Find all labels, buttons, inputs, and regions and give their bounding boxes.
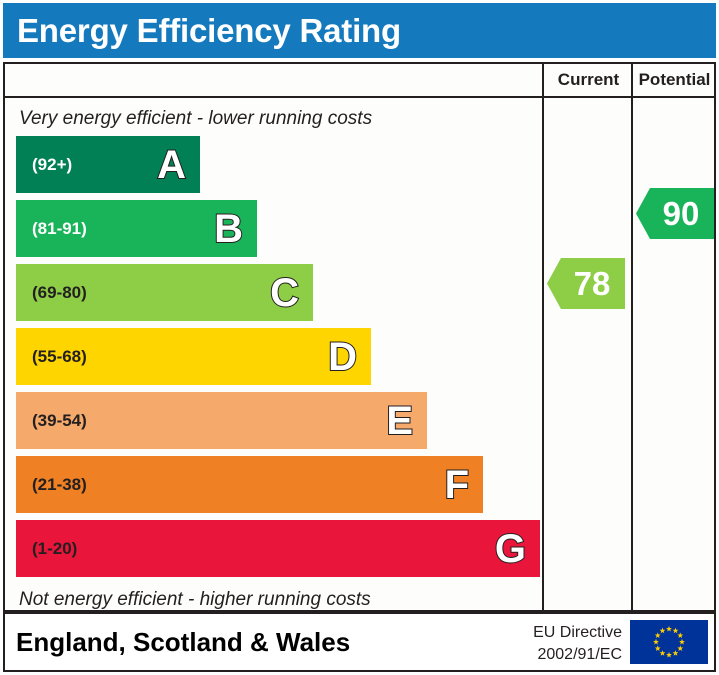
band-range-b: (81-91) <box>16 219 87 239</box>
table-header-row: Current Potential <box>5 64 714 98</box>
band-bar-a: (92+)A <box>16 136 200 193</box>
band-letter-c: C <box>270 273 313 313</box>
eu-directive-line2: 2002/91/EC <box>533 644 622 666</box>
energy-efficiency-certificate: Energy Efficiency Rating Current Potenti… <box>0 0 719 675</box>
band-bar-g: (1-20)G <box>16 520 540 577</box>
caption-inefficient: Not energy efficient - higher running co… <box>19 589 371 611</box>
band-bar-d: (55-68)D <box>16 328 371 385</box>
band-range-d: (55-68) <box>16 347 87 367</box>
band-range-a: (92+) <box>16 155 72 175</box>
band-bar-c: (69-80)C <box>16 264 313 321</box>
column-divider-current <box>542 64 544 610</box>
band-range-c: (69-80) <box>16 283 87 303</box>
band-bars-container: (92+)A(81-91)B(69-80)C(55-68)D(39-54)E(2… <box>16 136 540 586</box>
band-letter-f: F <box>445 465 483 505</box>
rating-arrow-potential: 90 <box>636 188 714 239</box>
band-bar-f: (21-38)F <box>16 456 483 513</box>
band-letter-e: E <box>386 401 427 441</box>
band-letter-b: B <box>214 209 257 249</box>
band-range-g: (1-20) <box>16 539 77 559</box>
eu-flag-icon <box>630 620 708 664</box>
column-divider-potential <box>631 64 633 610</box>
band-range-e: (39-54) <box>16 411 87 431</box>
band-range-f: (21-38) <box>16 475 87 495</box>
band-letter-a: A <box>157 145 200 185</box>
certificate-title-bar: Energy Efficiency Rating <box>3 3 716 58</box>
rating-table: Current Potential Very energy efficient … <box>3 62 716 612</box>
band-letter-d: D <box>328 337 371 377</box>
band-bar-e: (39-54)E <box>16 392 427 449</box>
band-bar-b: (81-91)B <box>16 200 257 257</box>
certificate-footer: England, Scotland & Wales EU Directive 2… <box>3 612 716 672</box>
rating-arrow-current: 78 <box>547 258 625 309</box>
footer-region-label: England, Scotland & Wales <box>5 627 350 658</box>
column-header-current: Current <box>544 64 633 96</box>
rating-value-potential: 90 <box>651 197 700 230</box>
band-letter-g: G <box>495 529 540 569</box>
page-title: Energy Efficiency Rating <box>3 12 401 50</box>
caption-efficient: Very energy efficient - lower running co… <box>19 108 372 130</box>
eu-directive-label: EU Directive 2002/91/EC <box>533 622 622 665</box>
column-header-potential: Potential <box>633 64 716 96</box>
rating-value-current: 78 <box>562 267 611 300</box>
eu-directive-line1: EU Directive <box>533 622 622 644</box>
